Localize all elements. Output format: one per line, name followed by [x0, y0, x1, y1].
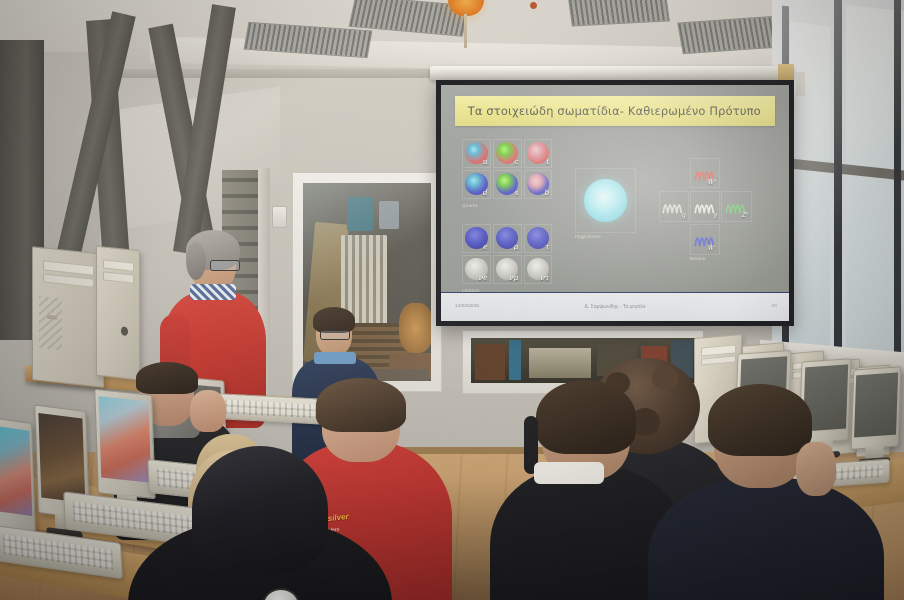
higgs-label: Higgs boson: [575, 234, 601, 239]
particle-cell-tau-neutrino: ντ: [524, 255, 553, 284]
boson-cell-z: Z⁰: [721, 191, 752, 221]
student-hair: [316, 378, 406, 432]
particle-symbol: b: [544, 188, 549, 197]
screen-bracket: [796, 72, 805, 96]
student-hand: [796, 442, 836, 496]
particle-cell-bottom: b: [524, 170, 553, 199]
roller-screen-housing: [430, 66, 794, 80]
sprinkler-head: [530, 2, 537, 9]
power-button[interactable]: [121, 326, 128, 336]
desktop-computer-tower: [32, 246, 104, 388]
monitor-display[interactable]: [38, 413, 86, 503]
higgs-sphere: [584, 179, 627, 222]
particle-symbol: νe: [479, 273, 488, 282]
slide-date: 14/03/2015: [455, 304, 479, 309]
drive-bay: [43, 273, 94, 287]
slide-title: Τα στοιχειώδη σωματίδια- Καθιερωμένο Πρό…: [468, 104, 761, 118]
particle-symbol: d: [483, 188, 488, 197]
projected-slide: Τα στοιχειώδη σωματίδια- Καθιερωμένο Πρό…: [441, 85, 789, 321]
student-hand: [190, 390, 226, 432]
particle-symbol: s: [515, 188, 519, 197]
bosons-group-label: Bosons: [690, 256, 705, 261]
boson-symbol: g: [682, 212, 686, 219]
quark-grid: u c t d s: [462, 139, 552, 199]
hair-curl: [652, 366, 678, 390]
particle-cell-down: d: [462, 170, 491, 199]
particle-cell-muon: μ: [493, 224, 522, 253]
particle-symbol: e: [483, 242, 487, 251]
window-mullion: [834, 0, 842, 360]
storeroom-bottle: [379, 201, 399, 229]
computer-monitor: [94, 389, 156, 500]
particle-cell-strange: s: [493, 170, 522, 199]
glasses-icon: [210, 260, 240, 271]
desktop-computer-tower: [96, 246, 140, 381]
shirt-collar: [534, 462, 604, 484]
boson-symbol: W⁻: [708, 245, 717, 252]
boson-cell-gluon: g: [659, 191, 690, 221]
workshop-object: [529, 348, 591, 378]
glasses-icon: [320, 330, 350, 340]
student-hair: [136, 362, 198, 394]
particle-symbol: τ: [545, 242, 549, 251]
window-mullion: [894, 0, 901, 362]
drive-bay: [43, 260, 94, 275]
particle-cell-up: u: [462, 139, 491, 168]
tower-vent: [39, 295, 63, 350]
storeroom-object: [399, 303, 431, 353]
particle-cell-electron-neutrino: νe: [462, 255, 491, 284]
slide-page-number: 20: [771, 304, 776, 309]
hood: [192, 446, 328, 574]
slide-title-bar: Τα στοιχειώδη σωματίδια- Καθιερωμένο Πρό…: [455, 96, 775, 127]
workshop-object: [509, 340, 521, 380]
higgs-boson-cell: [575, 168, 636, 234]
boson-cell-w-plus: W⁺: [690, 158, 721, 188]
computer-monitor: [851, 366, 902, 450]
presenter-hair: [186, 242, 206, 280]
monitor-display[interactable]: [854, 372, 897, 437]
boson-cell-w-minus: W⁻: [690, 224, 721, 254]
boson-symbol: Z⁰: [742, 212, 749, 219]
particle-cell-charm: c: [493, 139, 522, 168]
slide-author: Δ. Σαμψωνίδης - Τα μεγάλα: [585, 304, 646, 310]
student-hair: [708, 384, 812, 456]
slide-footer: 14/03/2015 Δ. Σαμψωνίδης - Τα μεγάλα 20: [441, 292, 789, 321]
particle-cell-muon-neutrino: νμ: [493, 255, 522, 284]
light-switch[interactable]: [272, 206, 287, 228]
storeroom-box: [347, 197, 373, 231]
particle-symbol: ντ: [541, 273, 550, 282]
lamp-stem: [464, 14, 467, 48]
lepton-grid: e μ τ νe νμ: [462, 224, 552, 284]
workshop-object: [475, 344, 505, 380]
monitor-display[interactable]: [0, 425, 32, 517]
quarks-group-label: Quarks: [462, 203, 478, 208]
drive-bay: [701, 345, 735, 356]
particle-symbol: c: [514, 157, 518, 166]
drive-bay: [103, 272, 134, 284]
particle-symbol: νμ: [509, 273, 518, 282]
assistant-collar: [314, 352, 356, 364]
particle-symbol: μ: [514, 242, 519, 251]
projection-screen: Τα στοιχειώδη σωματίδια- Καθιερωμένο Πρό…: [436, 80, 794, 326]
boson-symbol: γ: [713, 212, 717, 219]
lecture-room-photo: Τα στοιχειώδη σωματίδια- Καθιερωμένο Πρό…: [0, 0, 904, 600]
particle-symbol: u: [483, 157, 488, 166]
drive-bay: [701, 355, 735, 365]
monitor-display[interactable]: [99, 396, 152, 483]
computer-monitor: [0, 416, 36, 533]
drive-bay: [103, 259, 134, 272]
particle-cell-tau: τ: [524, 224, 553, 253]
boson-cell-photon: γ: [690, 191, 721, 221]
particle-cell-electron: e: [462, 224, 491, 253]
particle-cell-top: t: [524, 139, 553, 168]
student-hair: [536, 380, 636, 454]
particle-symbol: t: [546, 157, 549, 166]
boson-symbol: W⁺: [708, 179, 717, 186]
presenter-collar: [190, 284, 236, 300]
